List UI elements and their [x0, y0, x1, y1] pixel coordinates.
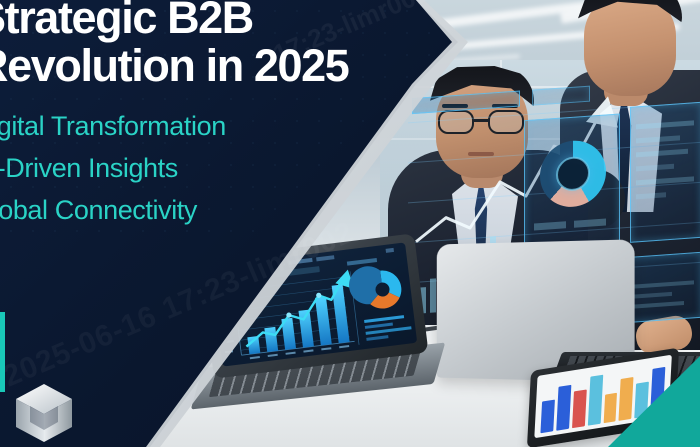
marketing-banner: 2025-06-16 17:23-limr002 17:23-limr002 S…: [0, 0, 700, 447]
person-seated-eyebrow: [492, 104, 518, 108]
person-seated-mouth: [468, 152, 494, 156]
page-title: Strategic B2B Revolution in 2025: [0, 0, 406, 89]
feature-item-digital-transformation: Digital Transformation: [0, 106, 402, 148]
person-seated-eyebrow: [442, 104, 468, 108]
eyeglasses-icon: [436, 110, 530, 134]
headline-line-1: Strategic B2B: [0, 0, 253, 43]
feature-item-ai-driven-insights: AI-Driven Insights: [0, 148, 402, 190]
feature-item-global-connectivity: Global Connectivity: [0, 190, 402, 232]
feature-list: Digital Transformation AI-Driven Insight…: [0, 106, 402, 232]
headline-line-2: Revolution in 2025: [0, 42, 406, 90]
person-standing-head: [584, 0, 676, 96]
cube-logo: [12, 382, 76, 444]
teal-accent-bar: [0, 312, 5, 392]
